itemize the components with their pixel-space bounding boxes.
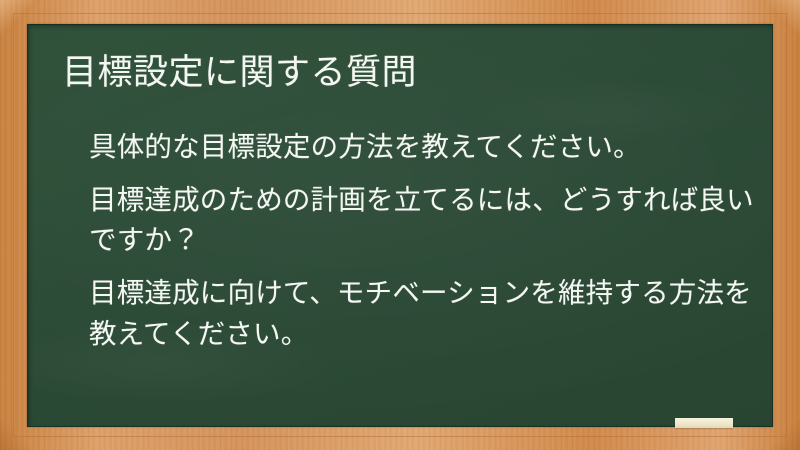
list-item: 目標達成のための計画を立てるには、どうすれば良いですか？ (89, 180, 761, 260)
chalkboard-slide: 目標設定に関する質問 具体的な目標設定の方法を教えてください。 目標達成のための… (0, 0, 800, 450)
chalk-stick-icon (675, 418, 733, 428)
list-item: 目標達成に向けて、モチベーションを維持する方法を教えてください。 (89, 273, 761, 353)
chalkboard-surface: 目標設定に関する質問 具体的な目標設定の方法を教えてください。 目標達成のための… (27, 24, 773, 427)
bullet-list: 具体的な目標設定の方法を教えてください。 目標達成のための計画を立てるには、どう… (89, 127, 761, 354)
list-item: 具体的な目標設定の方法を教えてください。 (89, 127, 761, 167)
slide-content: 目標設定に関する質問 具体的な目標設定の方法を教えてください。 目標達成のための… (27, 24, 773, 427)
page-title: 目標設定に関する質問 (62, 53, 417, 92)
